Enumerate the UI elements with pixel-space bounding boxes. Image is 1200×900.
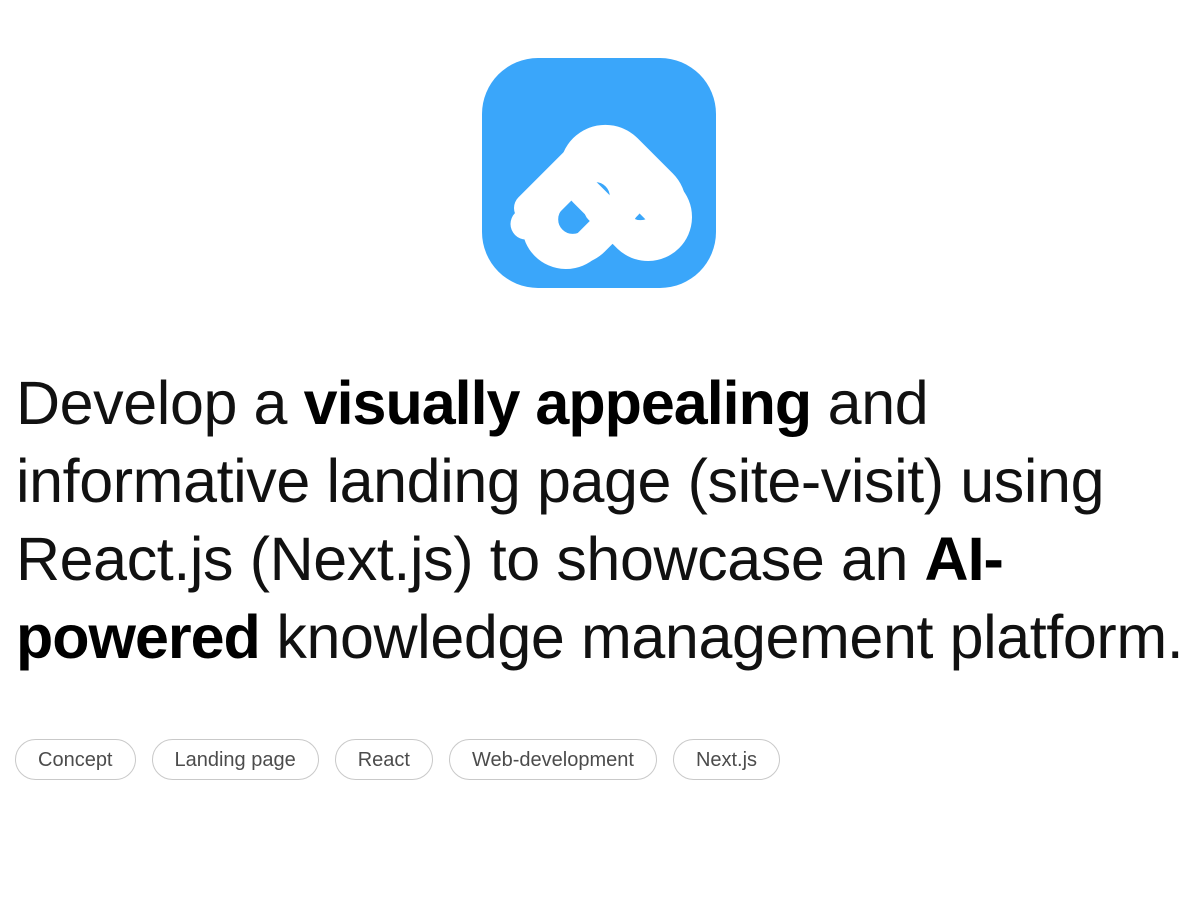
tag-react[interactable]: React <box>335 739 433 780</box>
tag-list: Concept Landing page React Web-developme… <box>15 739 1185 780</box>
tag-web-development[interactable]: Web-development <box>449 739 657 780</box>
headline-segment-emphasis: visually appealing <box>304 369 811 437</box>
headline-segment: knowledge management platform. <box>260 603 1183 671</box>
tag-nextjs[interactable]: Next.js <box>673 739 780 780</box>
headline-text: Develop a visually appealing and informa… <box>16 364 1184 676</box>
knot-loops-logo-icon <box>482 58 716 288</box>
tag-landing-page[interactable]: Landing page <box>152 739 319 780</box>
headline-segment: Develop a <box>16 369 304 437</box>
page-root: Develop a visually appealing and informa… <box>0 0 1200 900</box>
brand-logo <box>482 58 716 288</box>
tag-concept[interactable]: Concept <box>15 739 136 780</box>
